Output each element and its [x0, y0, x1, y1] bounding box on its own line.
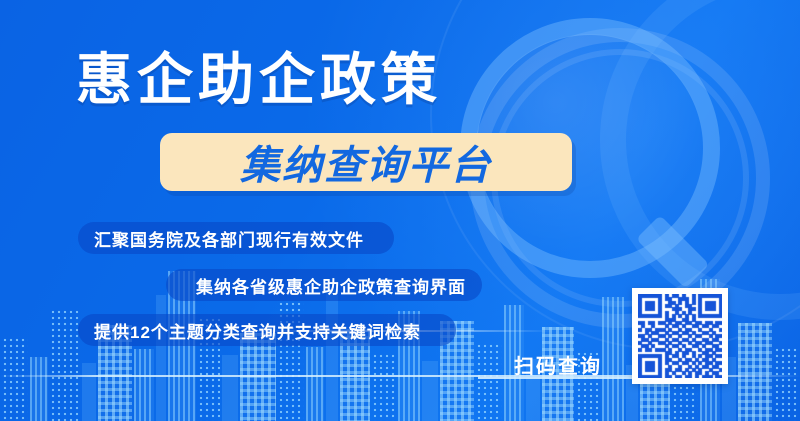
qr-code[interactable]: [632, 288, 728, 384]
subtitle-text: 集纳查询平台: [160, 133, 572, 191]
feature-bullet-3: 提供12个主题分类查询并支持关键词检索: [78, 314, 456, 346]
policy-query-banner: 惠企助企政策 集纳查询平台 汇聚国务院及各部门现行有效文件 集纳各省级惠企助企政…: [0, 0, 800, 421]
page-title: 惠企助企政策: [76, 49, 442, 111]
feature-bullet-2-label: 集纳各省级惠企助企政策查询界面: [196, 273, 466, 298]
qr-code-image: [638, 294, 722, 378]
feature-bullet-1-label: 汇聚国务院及各部门现行有效文件: [94, 226, 364, 251]
feature-bullet-2: 集纳各省级惠企助企政策查询界面: [166, 269, 482, 301]
feature-bullet-3-label: 提供12个主题分类查询并支持关键词检索: [94, 318, 421, 343]
subtitle-badge: 集纳查询平台: [160, 133, 572, 191]
scan-underline: [478, 377, 638, 379]
feature-bullet-1: 汇聚国务院及各部门现行有效文件: [78, 222, 394, 254]
scan-label: 扫码查询: [514, 350, 602, 379]
